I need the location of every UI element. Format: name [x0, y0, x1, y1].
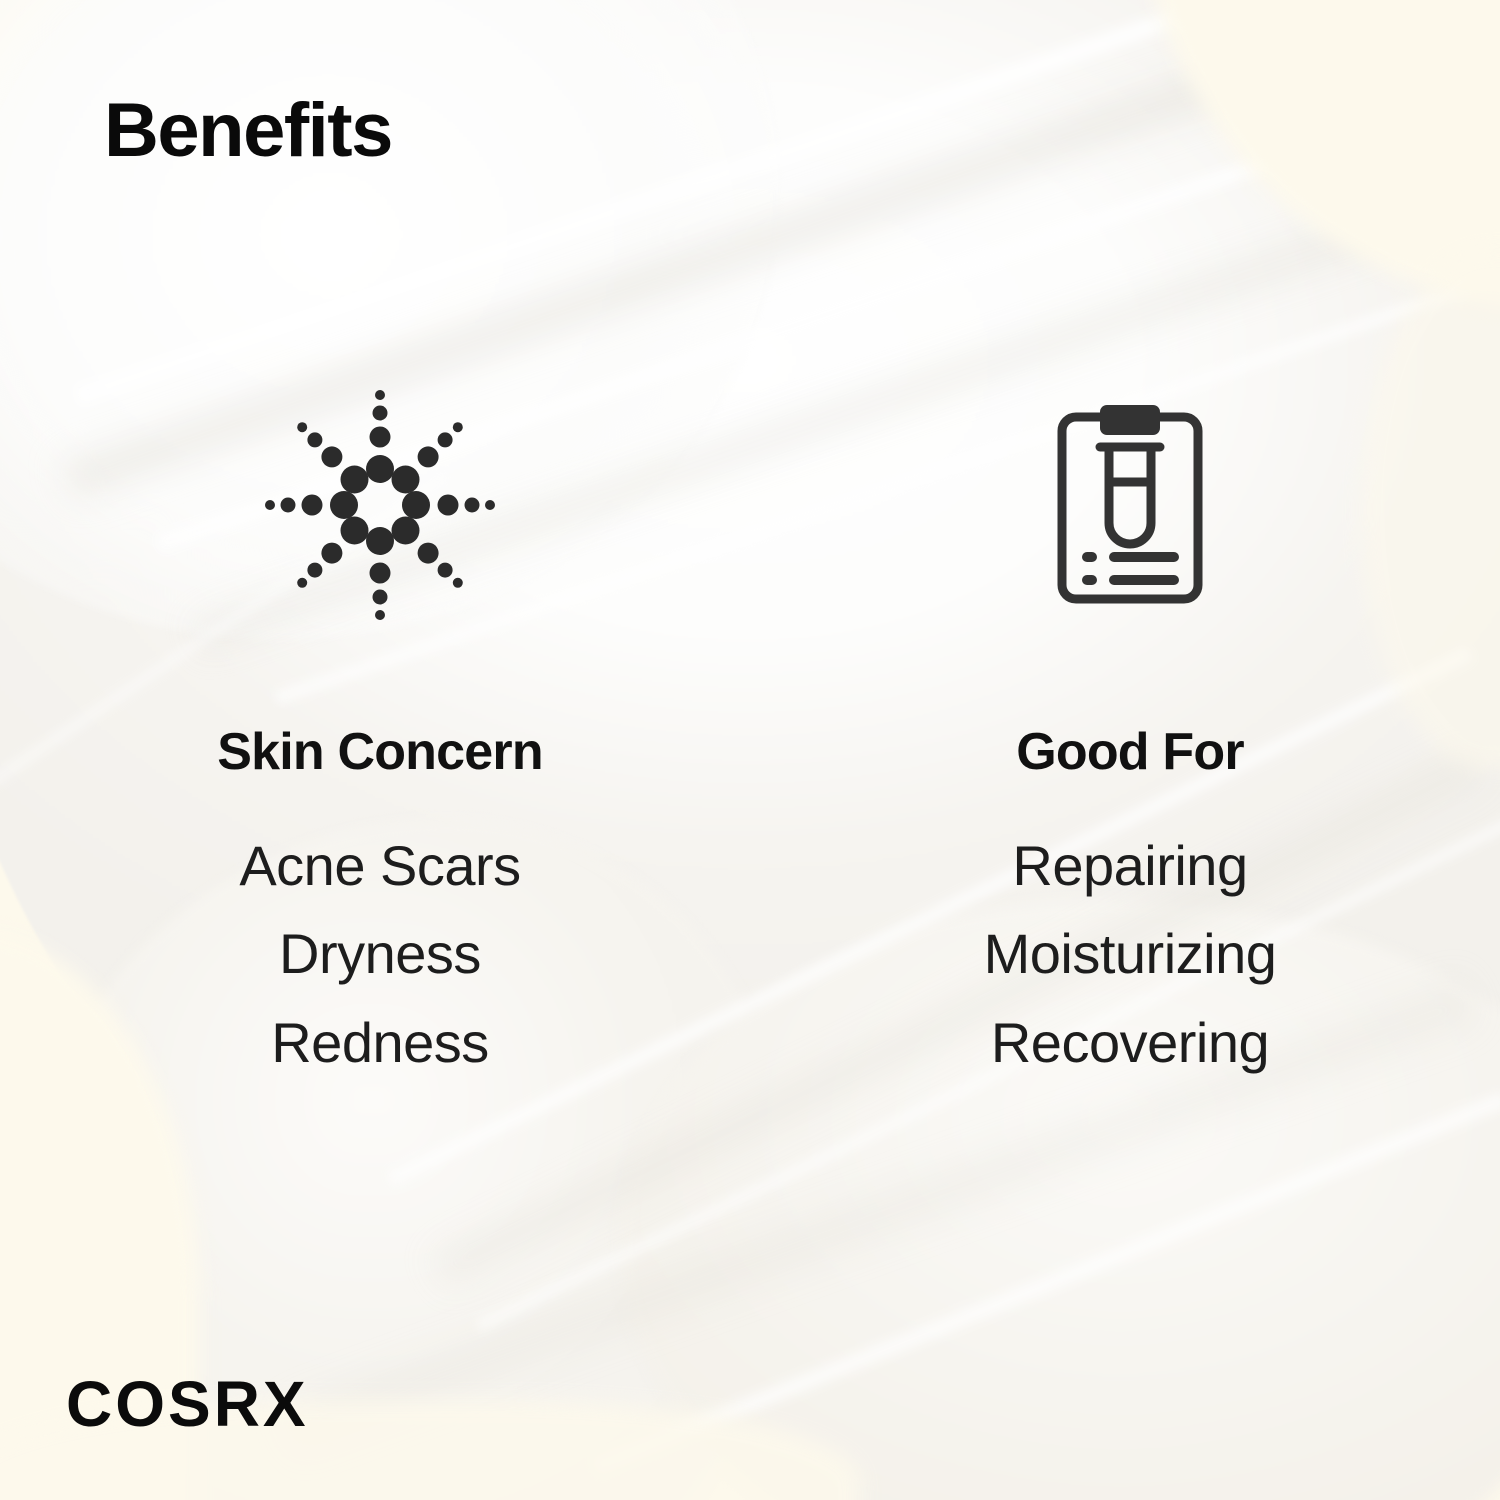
skin-concern-list: Acne Scars Dryness Redness [239, 822, 520, 1087]
list-item: Recovering [984, 999, 1277, 1087]
content-layer: Benefits [0, 0, 1500, 1500]
list-item: Dryness [239, 910, 520, 998]
clipboard-test-tube-icon [1056, 405, 1204, 605]
list-item: Acne Scars [239, 822, 520, 910]
column-heading-skin-concern: Skin Concern [217, 726, 543, 778]
benefits-infographic: Benefits [0, 0, 1500, 1500]
good-for-list: Repairing Moisturizing Recovering [984, 822, 1277, 1087]
column-heading-good-for: Good For [1016, 726, 1244, 778]
starburst-icon-container [265, 380, 495, 630]
benefit-column-good-for: Good For Repairing Moisturizing Recoveri… [760, 380, 1500, 1087]
benefits-columns: Skin Concern Acne Scars Dryness Redness [0, 380, 1500, 1087]
list-item: Moisturizing [984, 910, 1277, 998]
clipboard-icon-container [1056, 380, 1204, 630]
list-item: Repairing [984, 822, 1277, 910]
cosrx-brand-logo: COSRX [66, 1372, 309, 1436]
starburst-icon [265, 390, 495, 620]
benefit-column-skin-concern: Skin Concern Acne Scars Dryness Redness [0, 380, 760, 1087]
list-item: Redness [239, 999, 520, 1087]
page-title: Benefits [104, 93, 392, 169]
